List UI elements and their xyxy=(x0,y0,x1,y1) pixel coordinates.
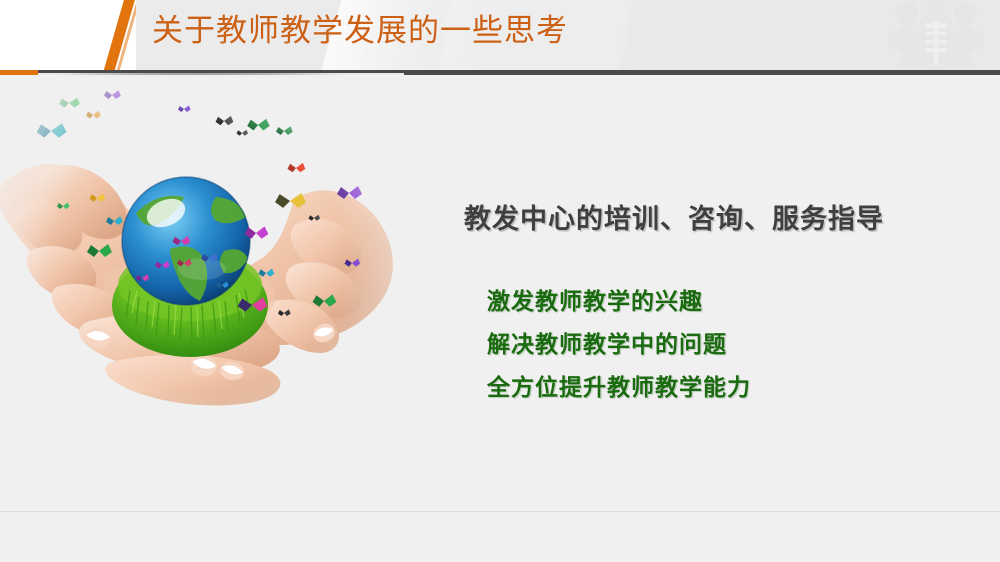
bullet-list: 激发教师教学的兴趣 解决教师教学中的问题 全方位提升教师教学能力 xyxy=(487,280,917,409)
bullet-item-1: 激发教师教学的兴趣 xyxy=(487,280,917,323)
university-seal-watermark-icon xyxy=(884,0,988,70)
bullet-item-3: 全方位提升教师教学能力 xyxy=(487,366,917,409)
header-artwork: + + + xyxy=(0,0,136,70)
slide-body: 教发中心的培训、咨询、服务指导 激发教师教学的兴趣 解决教师教学中的问题 全方位… xyxy=(0,75,1000,512)
bullet-item-2: 解决教师教学中的问题 xyxy=(487,323,917,366)
presentation-slide: + + + xyxy=(0,0,1000,562)
page-title: 关于教师教学发展的一些思考 xyxy=(152,11,568,51)
section-heading: 教发中心的培训、咨询、服务指导 xyxy=(464,197,884,236)
slide-header: + + + xyxy=(0,0,1000,70)
hands-holding-earth-image xyxy=(0,73,404,443)
header-rule-accent xyxy=(0,70,38,75)
slide-footer: 28 现代教学技术教育部重点实验室陕 xyxy=(0,512,1000,562)
